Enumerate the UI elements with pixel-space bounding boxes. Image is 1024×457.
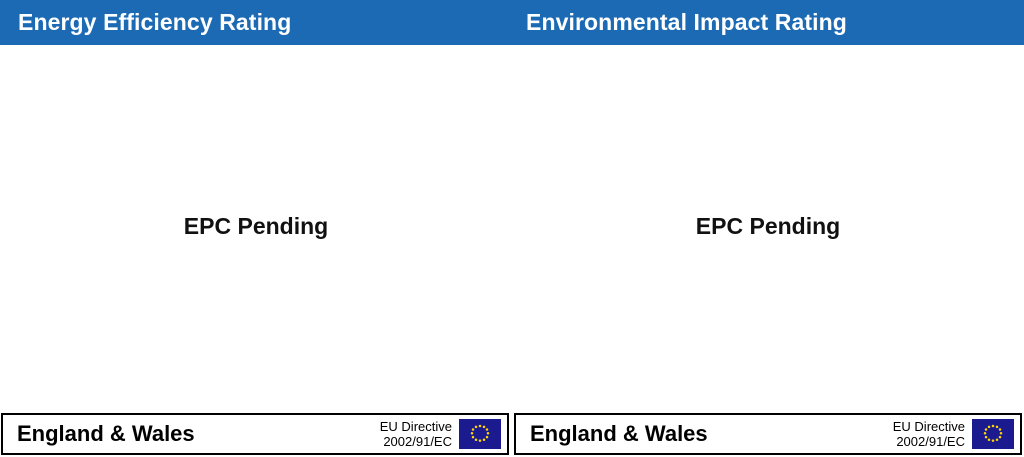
footer-box-energy-efficiency: England & Wales EU Directive 2002/91/EC [1,413,509,455]
environmental-impact-status-text: EPC Pending [256,213,1024,240]
header-bar: Energy Efficiency Rating Environmental I… [0,0,1024,45]
eu-directive-line2-right: 2002/91/EC [896,434,965,449]
region-label-right: England & Wales [530,421,708,447]
footer-box-environmental-impact: England & Wales EU Directive 2002/91/EC [514,413,1022,455]
eu-flag-icon [972,419,1014,449]
environmental-impact-rating-title: Environmental Impact Rating [526,9,847,36]
header-cell-environmental-impact: Environmental Impact Rating [512,0,1024,45]
eu-directive-label-right: EU Directive 2002/91/EC [893,419,965,449]
header-cell-energy-efficiency: Energy Efficiency Rating [0,0,512,45]
epc-certificate-graphic: Energy Efficiency Rating Environmental I… [0,0,1024,457]
eu-directive-line1-left: EU Directive [380,419,452,434]
environmental-impact-chart-area: EPC Pending [512,45,1024,413]
eu-flag-icon [459,419,501,449]
rating-body-area: EPC Pending EPC Pending [0,45,1024,413]
eu-directive-label-left: EU Directive 2002/91/EC [380,419,452,449]
eu-directive-line2-left: 2002/91/EC [383,434,452,449]
region-label-left: England & Wales [17,421,195,447]
eu-directive-line1-right: EU Directive [893,419,965,434]
footer-area: England & Wales EU Directive 2002/91/EC [0,413,1024,457]
energy-efficiency-rating-title: Energy Efficiency Rating [18,9,291,36]
